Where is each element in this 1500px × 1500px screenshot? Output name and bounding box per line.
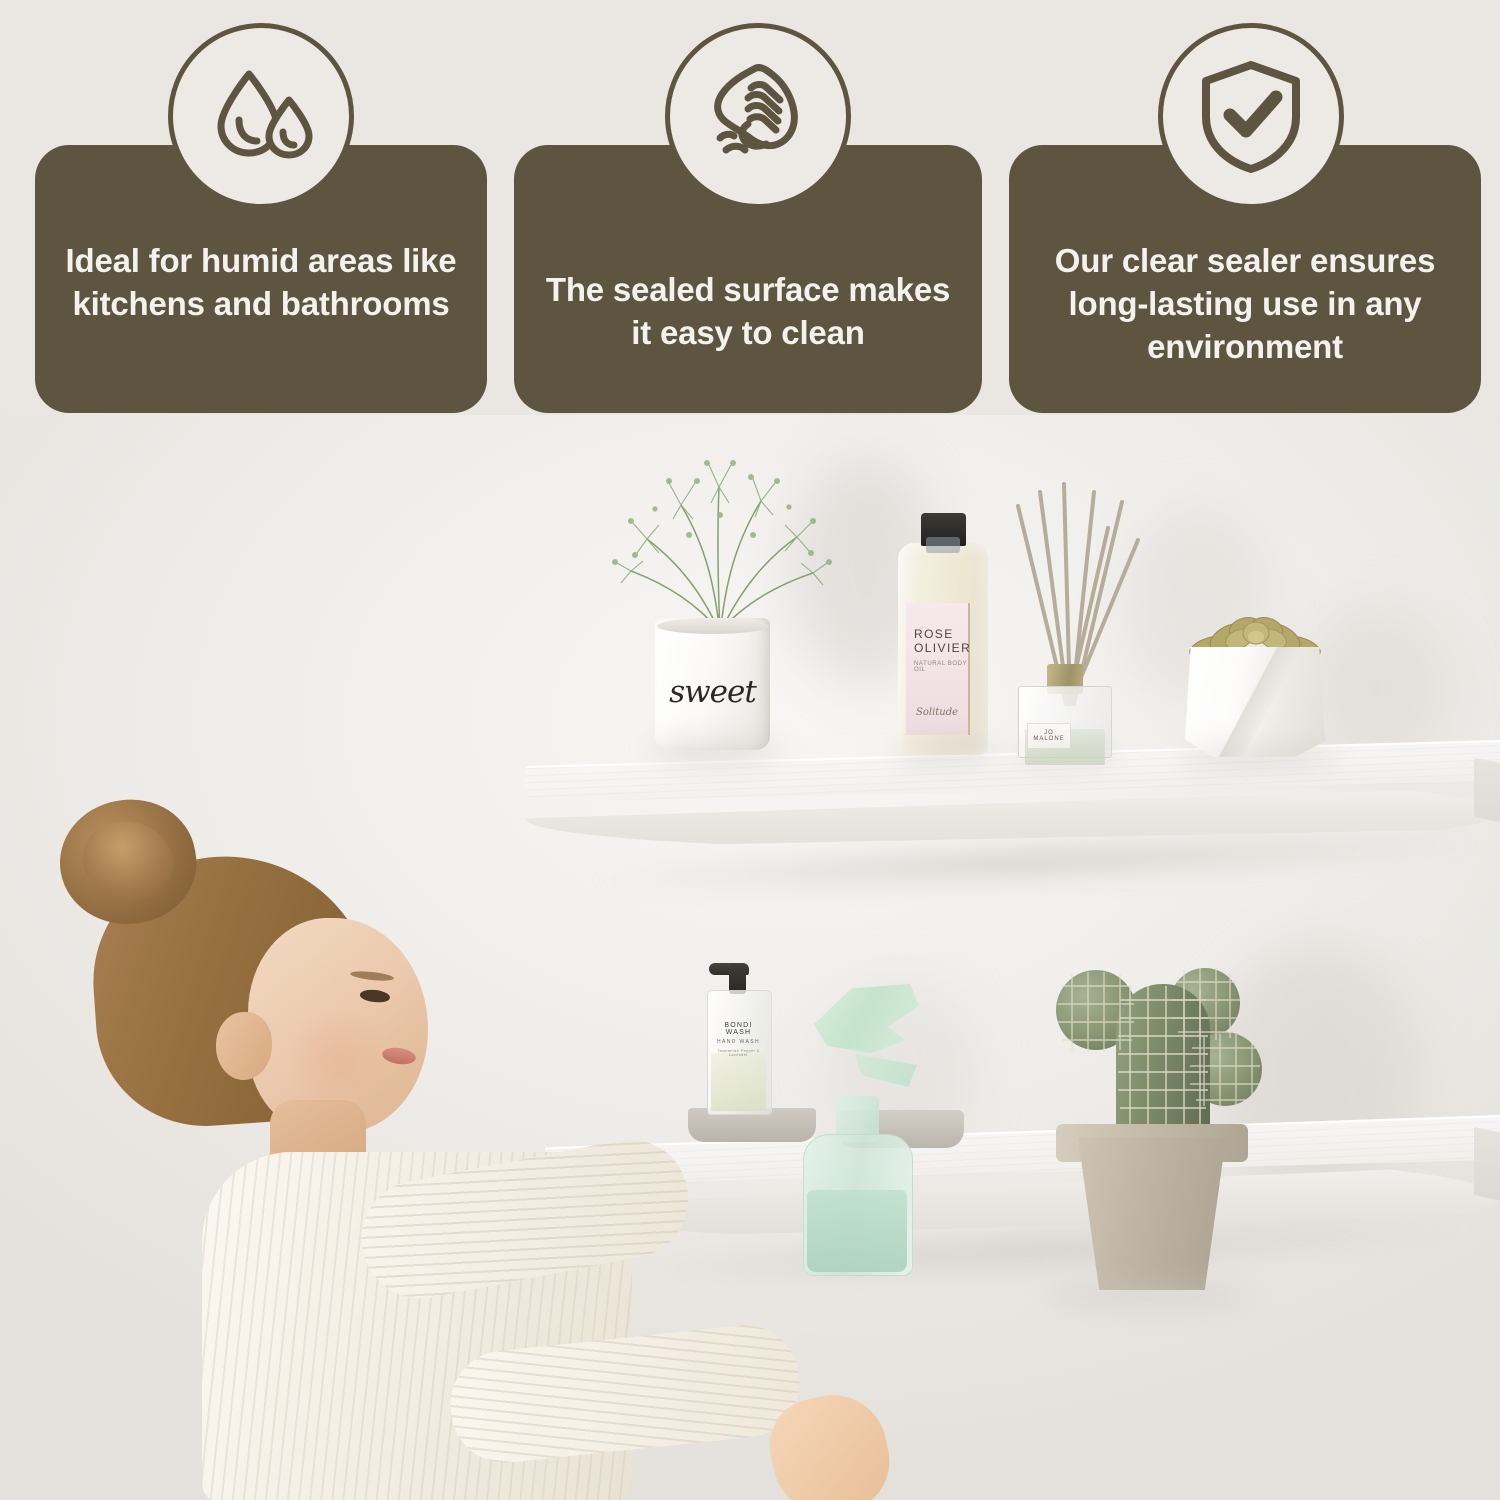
bottle-label: ROSE OLIVIER NATURAL BODY OIL Solitude <box>906 603 970 735</box>
bottle-label-line-3: NATURAL BODY OIL <box>914 661 968 673</box>
pot-contact-shadow <box>648 741 782 761</box>
spray-bottle <box>789 976 919 1276</box>
hand-wiping-cloth-icon <box>665 23 851 209</box>
potted-greenery-pot: sweet <box>655 618 770 750</box>
bottle-label-line-1: ROSE <box>914 627 954 641</box>
oil-bottle: ROSE OLIVIER NATURAL BODY OIL Solitude <box>898 543 988 755</box>
planter-facet-edge <box>1185 647 1325 757</box>
bottle-neck <box>926 537 960 553</box>
bottle-contact-shadow <box>892 745 998 763</box>
spray-trigger-lever <box>855 1054 917 1100</box>
pot-rim <box>657 618 768 634</box>
bottle-label-line-2: OLIVIER <box>914 641 971 655</box>
shield-check-icon <box>1158 23 1344 209</box>
diffuser-contact-shadow <box>1012 747 1118 763</box>
diffuser-label: JO MALONE <box>1027 723 1071 749</box>
spray-bottle-water <box>807 1190 907 1272</box>
potted-greenery-foliage <box>585 435 855 635</box>
pot-label: sweet <box>655 674 770 710</box>
bottle-label-brand: Solitude <box>916 707 958 718</box>
feature-card-text: Our clear sealer ensures long-lasting us… <box>1009 240 1481 369</box>
product-lifestyle-photo: sweet ROSE OLIVIER NATURAL BODY OIL Soli… <box>0 415 1500 1500</box>
water-droplets-icon <box>168 23 354 209</box>
feature-card-text: Ideal for humid areas like kitchens and … <box>35 240 487 326</box>
feature-card-text: The sealed surface makes it easy to clea… <box>514 269 982 355</box>
planter-contact-shadow <box>1178 749 1338 767</box>
reed-diffuser: JO MALONE <box>1018 670 1110 756</box>
infographic-root: Ideal for humid areas like kitchens and … <box>0 0 1500 1500</box>
held-spray-bottle-layer <box>0 970 1500 1430</box>
geometric-planter <box>1185 647 1325 757</box>
diffuser-reeds <box>1010 478 1210 708</box>
spray-trigger-head <box>807 984 919 1056</box>
feature-cards-row: Ideal for humid areas like kitchens and … <box>0 0 1500 430</box>
